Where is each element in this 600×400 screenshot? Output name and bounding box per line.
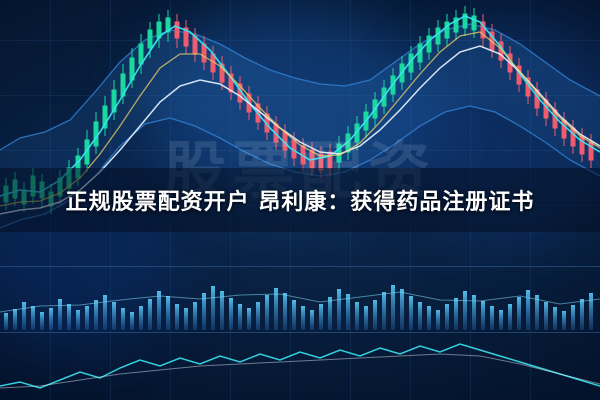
macd-line xyxy=(0,344,600,388)
stock-chart-image: 股票配资 正规股票配资开户 昂利康：获得药品注册证书 xyxy=(0,0,600,400)
headline-band: 正规股票配资开户 昂利康：获得药品注册证书 xyxy=(0,168,600,232)
volume-series xyxy=(4,285,593,330)
headline-text: 正规股票配资开户 昂利康：获得药品注册证书 xyxy=(66,184,535,216)
